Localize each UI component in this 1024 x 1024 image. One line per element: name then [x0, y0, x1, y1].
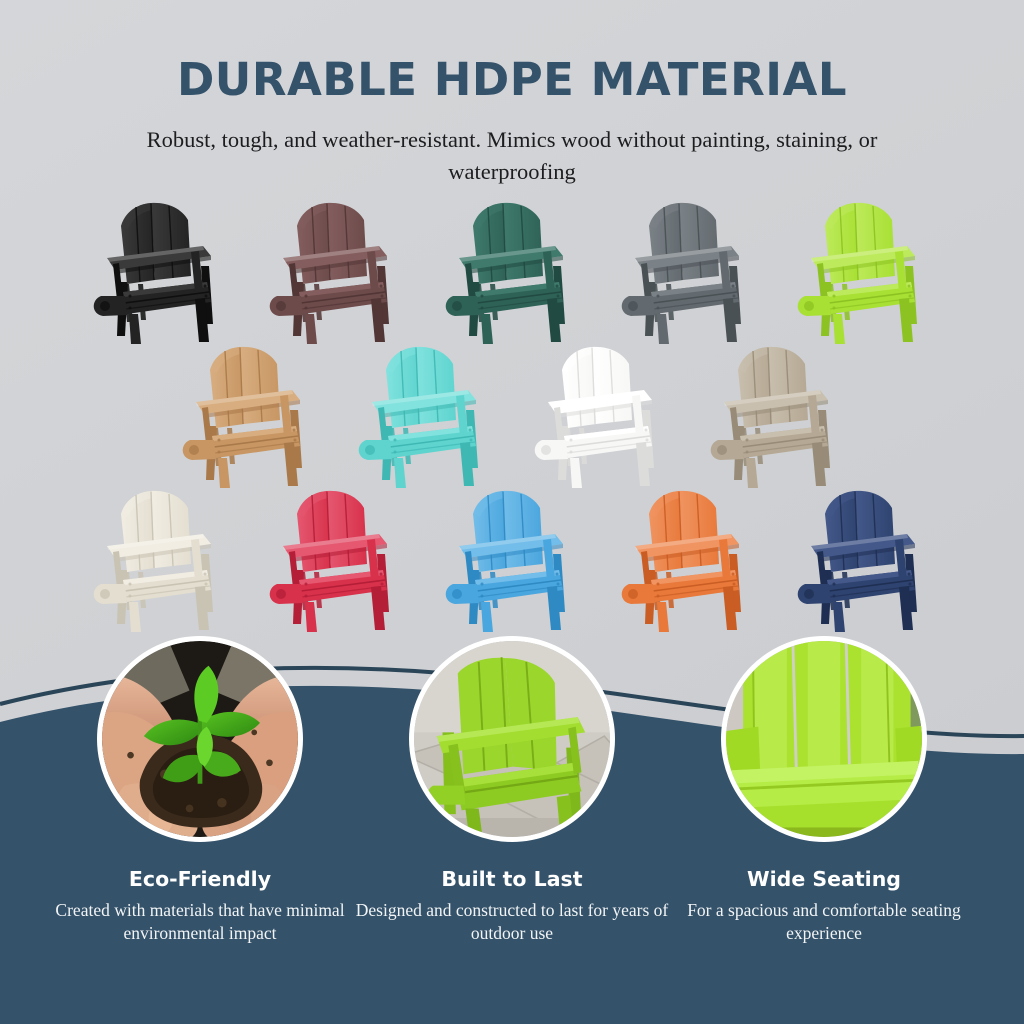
chair-row-1: [0, 196, 1024, 346]
feature-title: Eco-Friendly: [89, 869, 311, 890]
chair-swatch-navy-blue[interactable]: [787, 484, 939, 634]
chair-illustration: [172, 340, 324, 490]
chair-illustration: [435, 484, 587, 634]
feature-image-wide-seating: [721, 636, 927, 842]
chair-illustration: [435, 196, 587, 346]
feature-description: Created with materials that have minimal…: [40, 899, 360, 946]
chair-swatch-turquoise[interactable]: [348, 340, 500, 490]
chair-swatch-orange[interactable]: [611, 484, 763, 634]
chair-illustration: [348, 340, 500, 490]
chair-illustration: [259, 484, 411, 634]
chair-illustration: [700, 340, 852, 490]
feature-built-to-last: Built to Last Designed and constructed t…: [401, 636, 623, 945]
feature-title: Built to Last: [401, 869, 623, 890]
chair-row-3: [0, 484, 1024, 634]
feature-wide-seating: Wide Seating For a spacious and comforta…: [713, 636, 935, 945]
chair-swatch-brown[interactable]: [259, 196, 411, 346]
chair-illustration: [787, 196, 939, 346]
feature-description: For a spacious and comfortable seating e…: [666, 899, 982, 946]
chair-swatch-teak[interactable]: [172, 340, 324, 490]
feature-description: Designed and constructed to last for yea…: [352, 899, 672, 946]
chair-illustration: [787, 484, 939, 634]
page-subtitle: Robust, tough, and weather-resistant. Mi…: [132, 124, 892, 188]
feature-eco-friendly: Eco-Friendly Created with materials that…: [89, 636, 311, 945]
chair-illustration: [83, 196, 235, 346]
chair-illustration: [611, 196, 763, 346]
chair-swatch-black[interactable]: [83, 196, 235, 346]
chair-swatch-red[interactable]: [259, 484, 411, 634]
infographic-canvas: DURABLE HDPE MATERIAL Robust, tough, and…: [0, 0, 1024, 1024]
features-row: Eco-Friendly Created with materials that…: [0, 636, 1024, 945]
chair-swatch-weathered-wood[interactable]: [700, 340, 852, 490]
features-section: Eco-Friendly Created with materials that…: [0, 636, 1024, 945]
chair-illustration: [259, 196, 411, 346]
chair-swatch-light-blue[interactable]: [435, 484, 587, 634]
chair-illustration: [83, 484, 235, 634]
chair-row-2: [0, 340, 1024, 490]
feature-image-built-to-last: [409, 636, 615, 842]
header: DURABLE HDPE MATERIAL Robust, tough, and…: [0, 0, 1024, 188]
chair-illustration: [611, 484, 763, 634]
chair-swatch-lime-green[interactable]: [787, 196, 939, 346]
page-title: DURABLE HDPE MATERIAL: [0, 57, 1024, 102]
chair-swatch-gray[interactable]: [611, 196, 763, 346]
feature-title: Wide Seating: [713, 869, 935, 890]
chair-illustration: [524, 340, 676, 490]
chair-swatch-ivory[interactable]: [83, 484, 235, 634]
chair-color-grid: [0, 196, 1024, 634]
feature-image-eco-friendly: [97, 636, 303, 842]
chair-swatch-dark-green[interactable]: [435, 196, 587, 346]
chair-swatch-white[interactable]: [524, 340, 676, 490]
